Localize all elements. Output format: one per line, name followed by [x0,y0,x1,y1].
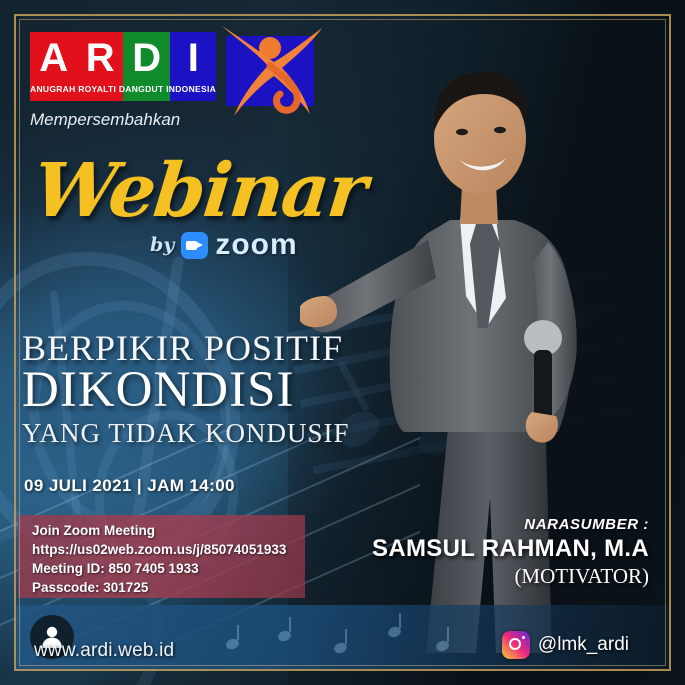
website-url[interactable]: www.ardi.web.id [34,640,174,662]
powered-by-zoom: by zoom [150,228,298,262]
speaker-name: SAMSUL RAHMAN, M.A [372,535,649,563]
zoom-camera-icon [181,232,208,259]
webinar-poster: A R D I ANUGRAH ROYALTI DANGDUT INDONESI… [0,0,685,685]
speaker-label: NARASUMBER : [372,516,649,533]
join-heading: Join Zoom Meeting [32,521,286,540]
zoom-wordmark: zoom [215,228,297,262]
event-title: BERPIKIR POSITIF DIKONDISI YANG TIDAK KO… [22,330,350,448]
meeting-id: Meeting ID: 850 7405 1933 [32,559,286,578]
ardi-letter-a: A [30,32,77,84]
instagram-block[interactable]: @lmk_ardi [502,631,629,659]
speaker-role: (MOTIVATOR) [372,564,649,589]
title-line-3: YANG TIDAK KONDUSIF [22,419,350,449]
ardi-logo-tagline: ANUGRAH ROYALTI DANGDUT INDONESIA [30,84,216,94]
webinar-heading: Webinar [29,148,369,234]
title-line-1: BERPIKIR POSITIF [22,330,350,366]
event-datetime: 09 JULI 2021 | JAM 14:00 [24,476,235,496]
ardi-letter-r: R [77,32,124,84]
meeting-passcode: Passcode: 301725 [32,578,286,597]
title-line-2: DIKONDISI [22,364,350,418]
ardi-logo: A R D I [30,32,314,106]
by-label: by [150,234,174,256]
instagram-handle: @lmk_ardi [538,634,629,656]
ardi-letter-blocks: A R D I [30,32,216,84]
ardi-letter-i: I [170,32,217,84]
meeting-url[interactable]: https://us02web.zoom.us/j/85074051933 [32,540,286,559]
ardi-mascot-icon [226,36,314,106]
instagram-icon [502,631,530,659]
presents-label: Mempersembahkan [30,110,180,130]
speaker-block: NARASUMBER : SAMSUL RAHMAN, M.A (MOTIVAT… [372,516,649,589]
ardi-letter-d: D [123,32,170,84]
zoom-meeting-details: Join Zoom Meeting https://us02web.zoom.u… [32,521,286,598]
